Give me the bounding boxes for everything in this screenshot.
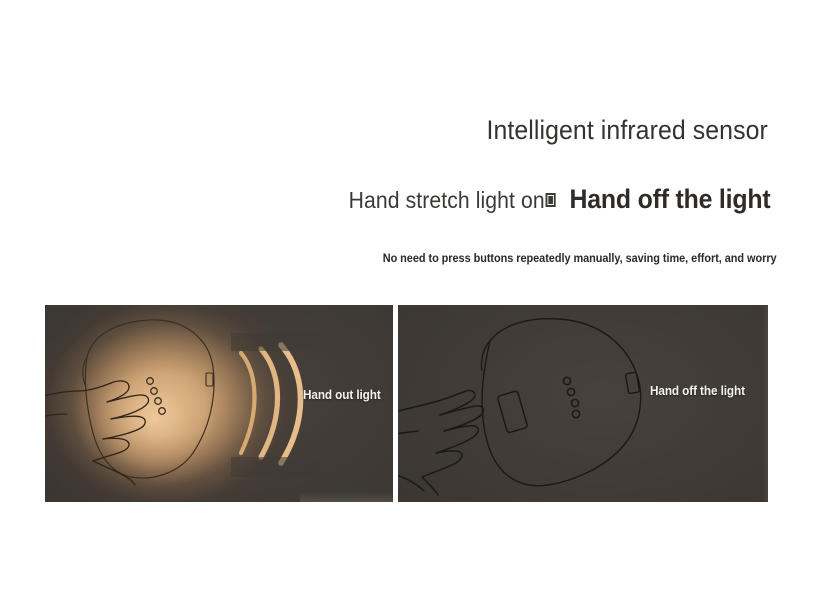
panel-edge-strip (762, 305, 768, 502)
led-indicator-1 (147, 378, 154, 385)
led-indicator-1 (563, 377, 570, 384)
panel-light-on: Hand out light (45, 305, 393, 502)
lamp-dome-outline (85, 320, 214, 478)
page-root: Intelligent infrared sensor Hand stretch… (0, 0, 814, 611)
led-indicator-4 (159, 408, 166, 415)
panel-light-off: Hand off the light (398, 305, 768, 502)
illustration-light-on (45, 305, 393, 502)
led-indicator-4 (572, 410, 579, 417)
illustration-light-off (398, 305, 768, 502)
led-indicator-3 (155, 398, 162, 405)
panel-group: Hand out light (0, 0, 814, 611)
hand-outline-inserted (45, 381, 148, 485)
led-indicator-3 (571, 399, 578, 406)
hand-outline-withdrawn (398, 391, 483, 495)
lamp-front-button (497, 391, 528, 433)
signal-wave-2 (261, 349, 278, 457)
panel-label-hand-out-light: Hand out light (303, 388, 381, 402)
led-indicator-2 (151, 388, 158, 395)
signal-wave-3 (281, 345, 301, 463)
panel-bottom-strip (300, 492, 393, 502)
signal-wave-1 (241, 353, 255, 453)
lamp-dome-outline (482, 319, 641, 486)
signal-waves (241, 345, 301, 463)
led-indicator-2 (567, 388, 574, 395)
lamp-side-button (206, 373, 213, 386)
panel-label-hand-off-the-light: Hand off the light (650, 384, 745, 398)
